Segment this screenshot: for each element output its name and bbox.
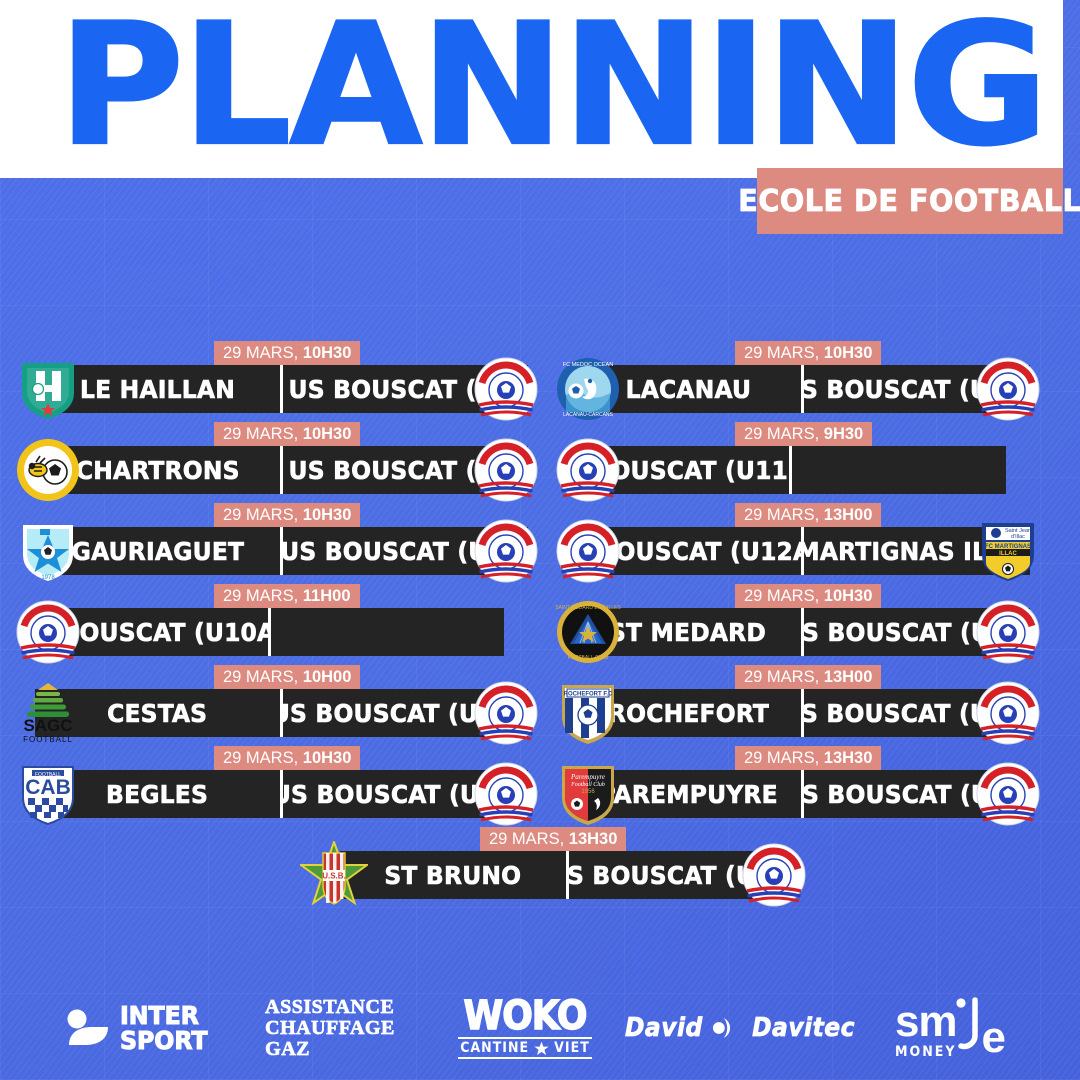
fixture-row[interactable]: 29 MARS, 10H30LACANAUUS BOUSCAT (U11A) F… [540, 332, 1080, 413]
svg-text:LACANAU-CARCANS: LACANAU-CARCANS [563, 412, 613, 418]
home-team-name: ST MEDARD [609, 618, 766, 647]
sponsor-strip: INTER SPORT ASSISTANCE CHAUFFAGE GAZ WOK… [0, 976, 1080, 1080]
fixture-row[interactable]: 29 MARS, 13H30PAREMPUYREUS BOUSCAT (U13B… [540, 737, 1080, 818]
fixture-time: 13H30 [824, 749, 873, 767]
us-bouscat-crest [472, 679, 540, 747]
us-bouscat-crest [472, 517, 540, 585]
fixture-date: 29 MARS, [223, 344, 303, 362]
fixture-date: 29 MARS, [744, 506, 824, 524]
fixture-row[interactable]: 29 MARS, 9H30US BOUSCAT (U11B) [540, 413, 1080, 494]
svg-text:CAB: CAB [25, 776, 71, 799]
home-team-name: CESTAS [107, 699, 207, 728]
rochefort-crest: ROCHEFORT F.C [554, 679, 622, 747]
cab-begles-crest: FOOTBALL CAB [14, 760, 82, 828]
fixture-time: 10H30 [303, 425, 352, 443]
subtitle-badge-label: ECOLE DE FOOTBALL [739, 184, 1080, 219]
home-team-name: GAURIAGUET [71, 537, 244, 566]
intersport-mark-icon [66, 1008, 112, 1048]
fixture-bar: LE HAILLANUS BOUSCAT (U6) [35, 365, 528, 413]
fixture-datetime-badge: 29 MARS, 11H00 [214, 584, 360, 608]
title-banner: PLANNING DU WEEK-END [0, 0, 1063, 178]
woko-tagline-left: CANTINE [460, 1040, 529, 1056]
svg-text:Football Club: Football Club [570, 782, 605, 788]
fixture-bar: US BOUSCAT (U10A) [35, 608, 504, 656]
fixture-row[interactable]: 29 MARS, 13H00ROCHEFORTUS BOUSCAT (U13A)… [540, 656, 1080, 737]
fixture-datetime-badge: 29 MARS, 13H00 [735, 665, 881, 689]
svg-text:SAGC: SAGC [23, 716, 72, 735]
davitec-line2: Davitec [752, 1013, 855, 1043]
fixture-datetime-badge: 29 MARS, 13H00 [735, 503, 881, 527]
fixture-bar: LACANAUUS BOUSCAT (U11A) [575, 365, 1030, 413]
home-team-name: ST BRUNO [385, 861, 522, 890]
fixture-time: 9H30 [824, 425, 863, 443]
svg-text:1956: 1956 [581, 789, 595, 795]
us-bouscat-crest [554, 436, 622, 504]
smile-line3: MONEY [895, 1044, 957, 1060]
page-title: PLANNING DU WEEK-END [58, 0, 1080, 180]
fixture-bar: ROCHEFORTUS BOUSCAT (U13A) [575, 689, 1030, 737]
david-davitec-logo: David Davitec [625, 1013, 855, 1043]
smile-j-icon [955, 996, 981, 1058]
smile-money-logo: sm MONEY e [855, 996, 1045, 1060]
fixture-row[interactable]: 29 MARS, 13H00US BOUSCAT (U12A)MARTIGNAS… [540, 494, 1080, 575]
fixture-time: 13H00 [824, 506, 873, 524]
fixture-home-side: ST BRUNO [340, 851, 566, 899]
fixture-row[interactable]: 29 MARS, 10H00CESTASUS BOUSCAT (U10B) SA… [0, 656, 540, 737]
fixture-time: 10H30 [303, 749, 352, 767]
intersport-line1: INTER [120, 1003, 208, 1028]
woko-logo: WOKO CANTINE VIET [425, 997, 625, 1059]
fixture-bar: ST MEDARDUS BOUSCAT (U13F) [575, 608, 1030, 656]
assistance-line2: CHAUFFAGE [265, 1018, 395, 1039]
fixture-date: 29 MARS, [223, 749, 303, 767]
smile-line1: sm [895, 997, 957, 1046]
fixture-row[interactable]: 29 MARS, 10H30LE HAILLANUS BOUSCAT (U6) [0, 332, 540, 413]
fixture-datetime-badge: 29 MARS, 10H30 [214, 746, 360, 770]
fixture-datetime-badge: 29 MARS, 10H00 [214, 665, 360, 689]
assistance-line1: ASSISTANCE [265, 997, 395, 1018]
us-bouscat-crest [974, 598, 1042, 666]
home-team-name: PAREMPUYRE [598, 780, 777, 809]
home-team-name: LE HAILLAN [80, 375, 235, 404]
woko-wordmark: WOKO [458, 997, 592, 1035]
fixture-date: 29 MARS, [744, 344, 824, 362]
fixture-row[interactable]: 29 MARS, 10H30BEGLESUS BOUSCAT (U11F) FO… [0, 737, 540, 818]
fixture-date: 29 MARS, [223, 425, 303, 443]
subtitle-badge: ECOLE DE FOOTBALL [757, 168, 1063, 234]
svg-text:SAINT MEDARD EN JALLES: SAINT MEDARD EN JALLES [555, 605, 621, 611]
svg-text:Parempuyre: Parempuyre [570, 773, 605, 781]
fixture-time: 13H30 [569, 830, 618, 848]
home-team-name: LACANAU [625, 375, 751, 404]
smile-line2: e [982, 1013, 1005, 1062]
svg-text:d'Illac: d'Illac [1011, 534, 1025, 540]
fixture-row[interactable]: 29 MARS, 10H30CHARTRONSUS BOUSCAT (U7) [0, 413, 540, 494]
woko-tagline-right: VIET [554, 1040, 590, 1056]
fixture-bar: US BOUSCAT (U12A)MARTIGNAS ILLAC [575, 527, 1030, 575]
fixture-date: 29 MARS, [223, 587, 303, 605]
sagc-cestas-crest: SAGC FOOTBALL [14, 679, 82, 747]
fixture-datetime-badge: 29 MARS, 13H30 [735, 746, 881, 770]
fixture-date: 29 MARS, [744, 749, 824, 767]
us-bouscat-crest [740, 841, 808, 909]
fixture-datetime-badge: 29 MARS, 10H30 [735, 584, 881, 608]
fixture-date: 29 MARS, [744, 425, 824, 443]
fixture-date: 29 MARS, [744, 587, 824, 605]
fixture-date: 29 MARS, [223, 668, 303, 686]
us-bouscat-crest [554, 517, 622, 585]
intersport-line2: SPORT [120, 1028, 208, 1053]
us-bouscat-crest [14, 598, 82, 666]
us-bouscat-crest [974, 760, 1042, 828]
us-bouscat-crest [472, 760, 540, 828]
fixture-bar: ST BRUNOUS BOUSCAT (U13C) [340, 851, 795, 899]
fixture-bar: PAREMPUYREUS BOUSCAT (U13B) [575, 770, 1030, 818]
fixture-datetime-badge: 29 MARS, 10H30 [214, 503, 360, 527]
woko-tagline: CANTINE VIET [458, 1037, 592, 1059]
svg-text:FOOTBALL CLUB: FOOTBALL CLUB [568, 655, 609, 661]
fixture-row[interactable]: 29 MARS, 11H00US BOUSCAT (U10A) [0, 575, 540, 656]
fixture-date: 29 MARS, [744, 668, 824, 686]
us-bouscat-crest [472, 436, 540, 504]
lacanau-crest: FC MEDOC OCEAN LACANAU-CARCANS [554, 355, 622, 423]
fixture-row[interactable]: 29 MARS, 10H30GAURIAGUETUS BOUSCAT (U9F)… [0, 494, 540, 575]
fixture-bar: US BOUSCAT (U11B) [575, 446, 1006, 494]
star-icon [534, 1041, 549, 1056]
fixture-away-side [792, 446, 1006, 494]
fixture-bar: CHARTRONSUS BOUSCAT (U7) [35, 446, 528, 494]
le-haillan-crest [14, 355, 82, 423]
us-bouscat-crest [472, 355, 540, 423]
fixture-time: 11H00 [303, 587, 351, 605]
fixture-datetime-badge: 29 MARS, 13H30 [480, 827, 626, 851]
fixture-time: 10H30 [824, 587, 873, 605]
fixture-datetime-badge: 29 MARS, 10H30 [735, 341, 881, 365]
davitec-mark-icon [708, 1015, 747, 1041]
fixture-date: 29 MARS, [223, 506, 303, 524]
fixture-row[interactable]: 29 MARS, 10H30ST MEDARDUS BOUSCAT (U13F)… [540, 575, 1080, 656]
fixture-row[interactable]: 29 MARS, 13H30ST BRUNOUS BOUSCAT (U13C) … [0, 818, 1080, 899]
fixture-time: 13H00 [824, 668, 873, 686]
martignas-illac-crest: Saint Jean d'Illac FC MARTIGNAS ILLAC [974, 517, 1042, 585]
intersport-logo: INTER SPORT [35, 1003, 235, 1053]
fixture-time: 10H30 [303, 344, 352, 362]
fixture-date: 29 MARS, [489, 830, 569, 848]
svg-text:1978: 1978 [41, 575, 55, 581]
fixture-bar: BEGLESUS BOUSCAT (U11F) [35, 770, 528, 818]
fixture-bar: CESTASUS BOUSCAT (U10B) [35, 689, 528, 737]
davitec-line1: David [625, 1013, 703, 1043]
assistance-line3: GAZ [265, 1039, 395, 1060]
st-medard-crest: SAINT MEDARD EN JALLES FOOTBALL CLUB [554, 598, 622, 666]
fixture-time: 10H30 [303, 506, 352, 524]
svg-text:ROCHEFORT F.C: ROCHEFORT F.C [564, 692, 613, 698]
svg-text:ILLAC: ILLAC [999, 551, 1017, 557]
fixture-datetime-badge: 29 MARS, 10H30 [214, 422, 360, 446]
us-bouscat-crest [974, 355, 1042, 423]
svg-text:FC MARTIGNAS: FC MARTIGNAS [985, 544, 1031, 550]
svg-text:FOOTBALL: FOOTBALL [23, 735, 73, 744]
home-team-name: CHARTRONS [76, 456, 240, 485]
fixture-bar: GAURIAGUETUS BOUSCAT (U9F) [35, 527, 528, 575]
fixture-time: 10H00 [303, 668, 352, 686]
home-team-name: ROCHEFORT [607, 699, 768, 728]
st-bruno-crest: U.S.B. [300, 841, 368, 909]
fixture-time: 10H30 [824, 344, 873, 362]
svg-text:U.S.B.: U.S.B. [322, 872, 346, 881]
us-bouscat-crest [974, 679, 1042, 747]
fixture-away-side [271, 608, 504, 656]
parempuyre-crest: Parempuyre Football Club 1956 [554, 760, 622, 828]
chartrons-crest [14, 436, 82, 504]
fixture-datetime-badge: 29 MARS, 10H30 [214, 341, 360, 365]
svg-text:FC MEDOC OCEAN: FC MEDOC OCEAN [563, 362, 613, 368]
gauriaguet-crest: 1978 [14, 517, 82, 585]
fixture-datetime-badge: 29 MARS, 9H30 [735, 422, 872, 446]
assistance-chauffage-gaz-logo: ASSISTANCE CHAUFFAGE GAZ [235, 997, 425, 1060]
home-team-name: BEGLES [106, 780, 208, 809]
